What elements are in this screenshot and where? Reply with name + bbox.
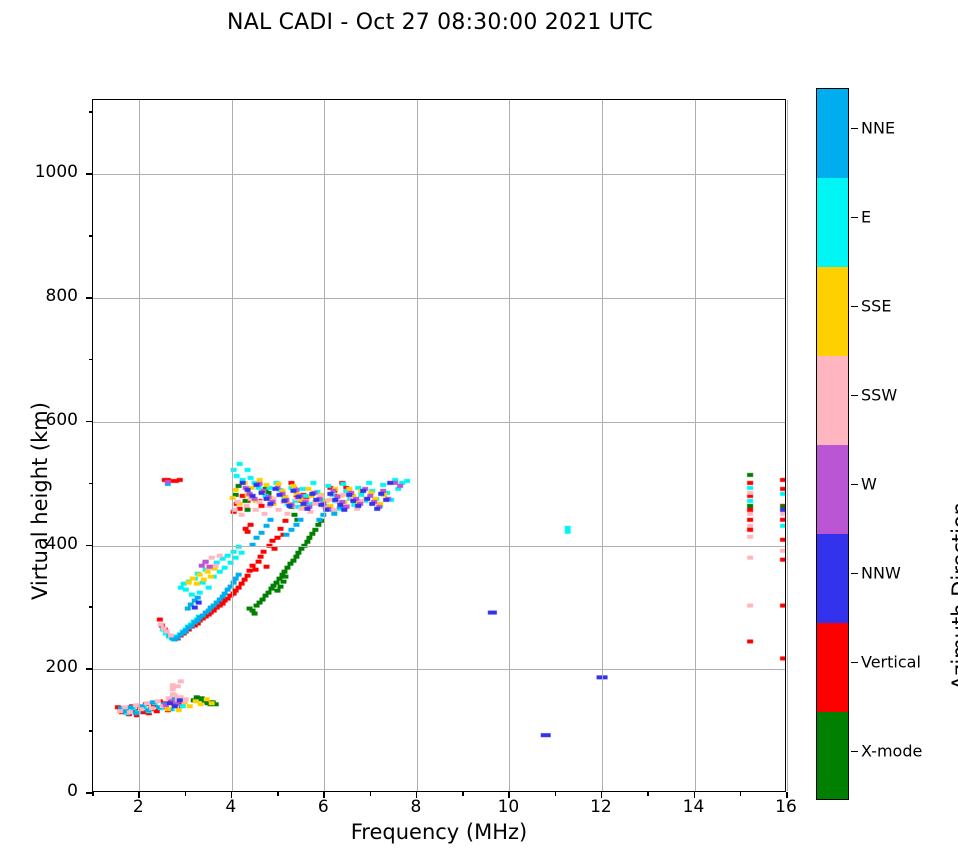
x-tick-mark-minor bbox=[555, 792, 557, 796]
colorbar-tick bbox=[851, 573, 858, 574]
y-tick-label: 1000 bbox=[18, 162, 78, 182]
x-tick-label: 12 bbox=[571, 797, 631, 817]
x-axis-label: Frequency (MHz) bbox=[92, 820, 786, 844]
x-tick-label: 16 bbox=[756, 797, 816, 817]
grid-line-horizontal bbox=[93, 298, 785, 299]
y-tick-label: 200 bbox=[18, 657, 78, 677]
colorbar-label-nne: NNE bbox=[861, 119, 895, 138]
y-tick-mark bbox=[86, 421, 92, 423]
colorbar[interactable] bbox=[816, 88, 849, 800]
x-tick-mark-minor bbox=[92, 792, 94, 796]
grid-line-vertical bbox=[139, 100, 140, 791]
x-tick-label: 8 bbox=[386, 797, 446, 817]
grid-line-horizontal bbox=[93, 669, 785, 670]
colorbar-band-x-mode[interactable] bbox=[817, 712, 848, 800]
colorbar-label-vertical: Vertical bbox=[861, 653, 921, 672]
x-tick-label: 14 bbox=[664, 797, 724, 817]
colorbar-band-w[interactable] bbox=[817, 445, 848, 534]
y-tick-mark bbox=[86, 792, 92, 794]
x-tick-mark-minor bbox=[370, 792, 372, 796]
colorbar-band-ssw[interactable] bbox=[817, 356, 848, 445]
y-tick-mark-minor bbox=[89, 483, 93, 485]
grid-line-vertical bbox=[232, 100, 233, 791]
colorbar-label-w: W bbox=[861, 475, 877, 494]
colorbar-label-ssw: SSW bbox=[861, 386, 897, 405]
grid-line-vertical bbox=[324, 100, 325, 791]
grid-line-horizontal bbox=[93, 174, 785, 175]
colorbar-tick bbox=[851, 662, 858, 663]
y-tick-label: 800 bbox=[18, 286, 78, 306]
grid-line-vertical bbox=[417, 100, 418, 791]
y-tick-mark bbox=[86, 545, 92, 547]
x-tick-label: 4 bbox=[201, 797, 261, 817]
colorbar-band-nnw[interactable] bbox=[817, 534, 848, 623]
grid-line-horizontal bbox=[93, 546, 785, 547]
colorbar-tick bbox=[851, 751, 858, 752]
x-tick-label: 6 bbox=[293, 797, 353, 817]
colorbar-label-x-mode: X-mode bbox=[861, 742, 922, 761]
grid-line-vertical bbox=[695, 100, 696, 791]
y-tick-mark bbox=[86, 173, 92, 175]
y-tick-mark-minor bbox=[89, 235, 93, 237]
y-tick-mark-minor bbox=[89, 359, 93, 361]
colorbar-band-vertical[interactable] bbox=[817, 623, 848, 712]
figure-canvas: NAL CADI - Oct 27 08:30:00 2021 UTC 2468… bbox=[0, 0, 958, 857]
y-tick-mark-minor bbox=[89, 111, 93, 113]
grid-line-vertical bbox=[787, 100, 788, 791]
y-tick-mark bbox=[86, 668, 92, 670]
x-tick-mark-minor bbox=[462, 792, 464, 796]
colorbar-tick bbox=[851, 395, 858, 396]
x-tick-mark-minor bbox=[185, 792, 187, 796]
colorbar-band-e[interactable] bbox=[817, 178, 848, 267]
y-tick-mark bbox=[86, 297, 92, 299]
grid-line-vertical bbox=[509, 100, 510, 791]
colorbar-title: Azimuth Direction bbox=[948, 502, 958, 690]
colorbar-band-sse[interactable] bbox=[817, 267, 848, 356]
x-tick-mark-minor bbox=[277, 792, 279, 796]
x-tick-mark-minor bbox=[740, 792, 742, 796]
x-tick-label: 2 bbox=[108, 797, 168, 817]
colorbar-label-sse: SSE bbox=[861, 297, 891, 316]
y-tick-label: 0 bbox=[18, 781, 78, 801]
y-axis-label: Virtual height (km) bbox=[28, 402, 52, 600]
colorbar-tick bbox=[851, 306, 858, 307]
figure-title: NAL CADI - Oct 27 08:30:00 2021 UTC bbox=[0, 10, 880, 35]
colorbar-label-e: E bbox=[861, 208, 871, 227]
y-tick-mark-minor bbox=[89, 730, 93, 732]
colorbar-band-nne[interactable] bbox=[817, 89, 848, 178]
x-tick-mark-minor bbox=[647, 792, 649, 796]
plot-area[interactable] bbox=[92, 99, 786, 792]
scatter-canvas bbox=[93, 100, 785, 791]
grid-line-horizontal bbox=[93, 422, 785, 423]
colorbar-tick bbox=[851, 217, 858, 218]
x-tick-label: 10 bbox=[478, 797, 538, 817]
grid-line-vertical bbox=[602, 100, 603, 791]
colorbar-tick bbox=[851, 484, 858, 485]
y-tick-mark-minor bbox=[89, 606, 93, 608]
colorbar-label-nnw: NNW bbox=[861, 564, 901, 583]
colorbar-tick bbox=[851, 128, 858, 129]
